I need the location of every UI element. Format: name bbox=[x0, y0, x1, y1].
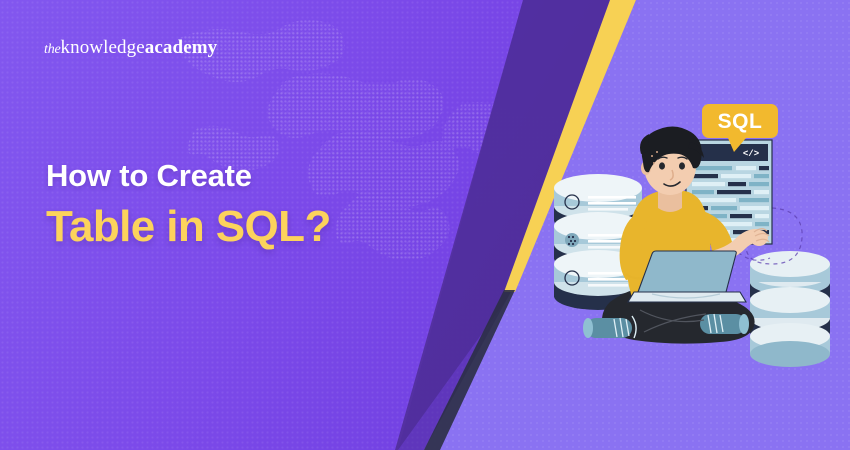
headline-line-2: Table in SQL? bbox=[46, 203, 331, 251]
banner-root: theknowledgeacademy How to Create Table … bbox=[0, 0, 850, 450]
code-tag-icon: </> bbox=[743, 149, 759, 159]
hero-illustration: </> bbox=[540, 96, 850, 356]
headline-line-1: How to Create bbox=[46, 158, 331, 195]
headline-block: How to Create Table in SQL? bbox=[46, 158, 331, 251]
logo-word-academy: academy bbox=[145, 37, 217, 58]
shoe-right bbox=[700, 314, 749, 334]
brand-logo[interactable]: theknowledgeacademy bbox=[44, 38, 217, 57]
logo-word-the: the bbox=[44, 42, 61, 57]
database-stack-right bbox=[750, 251, 830, 367]
sql-badge-label: SQL bbox=[718, 110, 763, 133]
logo-word-knowledge: knowledge bbox=[61, 37, 145, 58]
